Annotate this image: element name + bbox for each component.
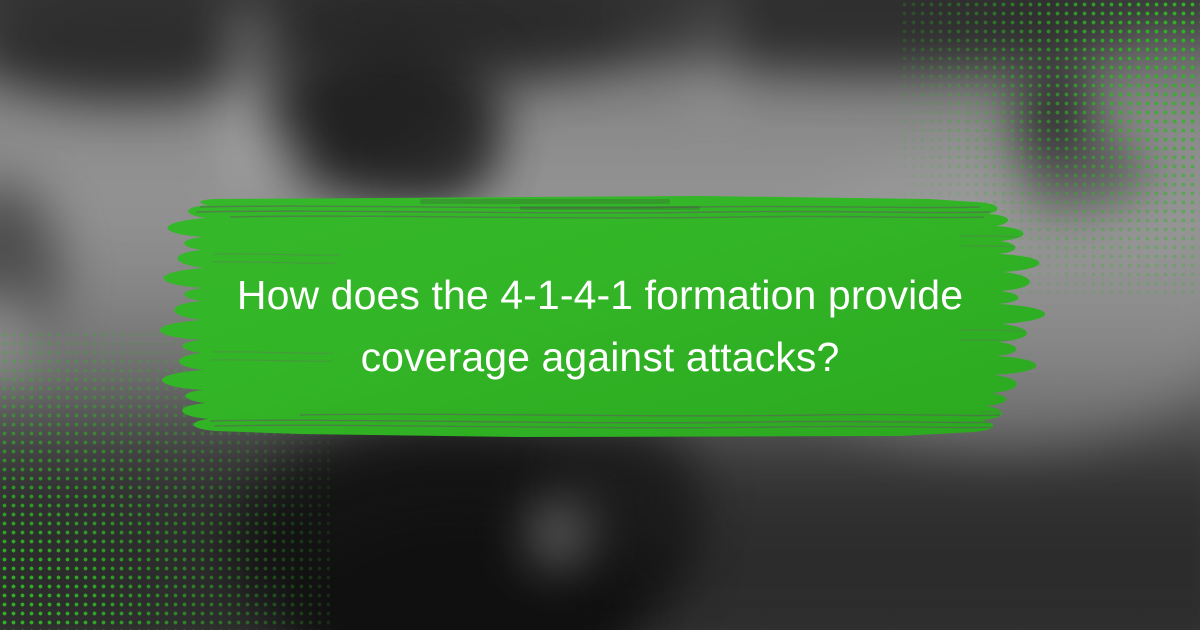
social-share-card: How does the 4-1-4-1 formation provide c… [0,0,1200,630]
page-title: How does the 4-1-4-1 formation provide c… [150,264,1050,388]
